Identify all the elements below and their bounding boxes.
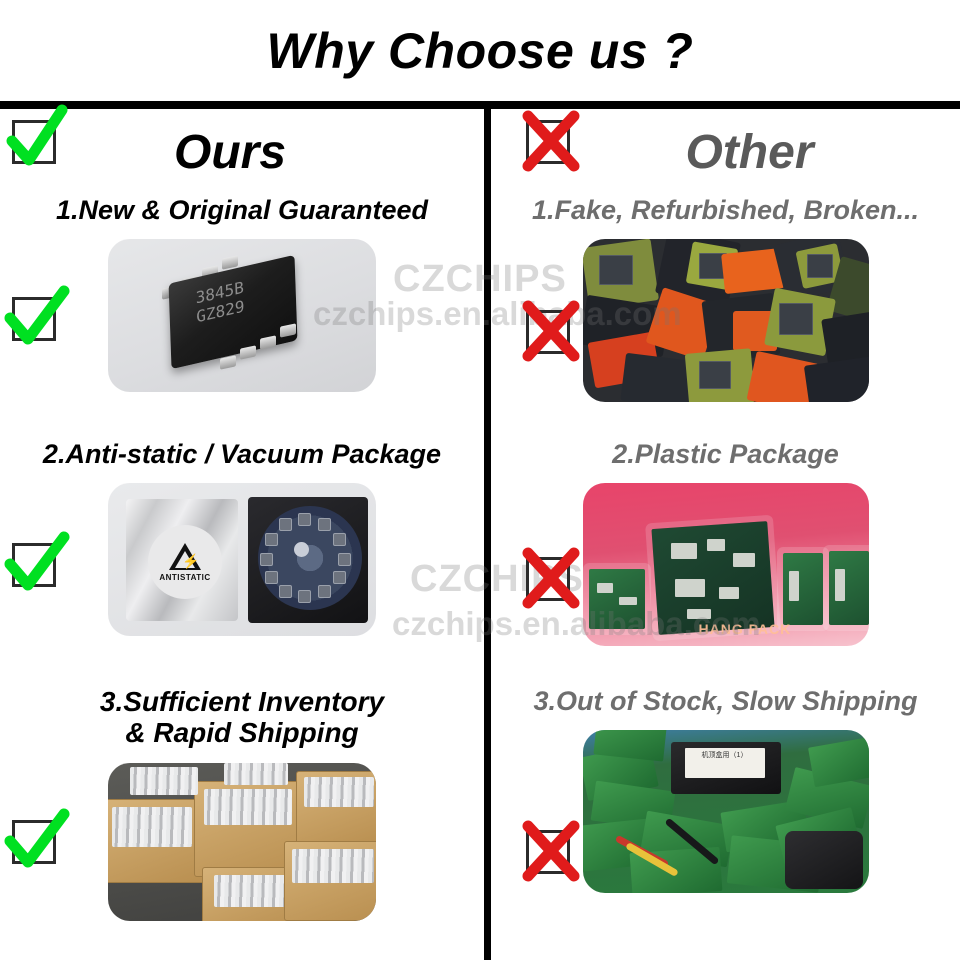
cross-mark-icon — [520, 108, 582, 170]
row-label: 2.Plastic Package — [491, 439, 960, 469]
column-header-ours: Ours — [0, 109, 484, 195]
column-ours: Ours 1.New & Original Guaranteed 3845B G… — [0, 109, 484, 960]
row-label: 3.Sufficient Inventory & Rapid Shipping — [0, 686, 484, 749]
cross-glyph — [520, 545, 582, 607]
horizontal-divider — [0, 101, 960, 109]
sop8-chip-photo: 3845B GZ829 — [108, 239, 376, 392]
antistatic-label: ⚡ ANTISTATIC — [148, 525, 222, 599]
plastic-bagged-pcb-photo: HANG PACK — [583, 483, 869, 646]
green-scrap-photo-art: 机顶盒用（1） — [583, 730, 869, 893]
scrap-bga-pile-photo — [583, 239, 869, 402]
warning-triangle-icon: ⚡ — [169, 543, 201, 570]
row-label: 2.Anti-static / Vacuum Package — [0, 439, 484, 469]
antistatic-caption: ANTISTATIC — [159, 573, 210, 582]
column-header-label: Ours — [174, 125, 286, 180]
stocked-cartons-photo — [108, 763, 376, 921]
row-label: 1.New & Original Guaranteed — [0, 195, 484, 225]
module-label: 机顶盒用（1） — [685, 748, 765, 778]
pack-watermark-text: HANG PACK — [699, 621, 792, 637]
page-title: Why Choose us ? — [267, 22, 694, 80]
check-mark-icon — [6, 531, 68, 593]
black-module: 机顶盒用（1） — [671, 742, 781, 794]
component-reel — [248, 497, 368, 623]
cross-mark-icon — [520, 298, 582, 360]
why-choose-us-infographic: Why Choose us ? — [0, 0, 960, 960]
cross-mark-icon — [520, 818, 582, 880]
check-glyph — [6, 808, 68, 870]
vertical-divider — [484, 107, 491, 960]
scrap-photo-art — [583, 239, 869, 402]
column-header-label: Other — [685, 125, 813, 180]
plastic-photo-art: HANG PACK — [583, 483, 869, 646]
antistatic-bag-reel-photo: ⚡ ANTISTATIC — [108, 483, 376, 636]
row-ours-2: 2.Anti-static / Vacuum Package ⚡ ANTISTA… — [0, 439, 484, 636]
check-glyph — [6, 108, 68, 170]
row-label: 3.Out of Stock, Slow Shipping — [491, 686, 960, 716]
cross-mark-icon — [520, 545, 582, 607]
cross-glyph — [520, 298, 582, 360]
row-label: 1.Fake, Refurbished, Broken... — [491, 195, 960, 225]
check-mark-icon — [6, 808, 68, 870]
cross-glyph — [520, 818, 582, 880]
cartons-photo-art — [108, 763, 376, 921]
cross-glyph — [520, 108, 582, 170]
row-ours-1: 1.New & Original Guaranteed 3845B GZ829 — [0, 195, 484, 392]
check-mark-icon — [6, 285, 68, 347]
title-bar: Why Choose us ? — [0, 0, 960, 101]
black-pad — [785, 831, 863, 889]
check-glyph — [6, 285, 68, 347]
check-mark-icon — [6, 108, 68, 170]
lightning-bolt-icon: ⚡ — [182, 554, 199, 568]
row-other-2: 2.Plastic Package HA — [491, 439, 960, 646]
chip-photo-art: 3845B GZ829 — [108, 239, 376, 392]
check-glyph — [6, 531, 68, 593]
row-ours-3: 3.Sufficient Inventory & Rapid Shipping — [0, 686, 484, 921]
green-pcb-scrap-photo: 机顶盒用（1） — [583, 730, 869, 893]
antistatic-photo-art: ⚡ ANTISTATIC — [108, 483, 376, 636]
silver-bag: ⚡ ANTISTATIC — [126, 499, 238, 621]
